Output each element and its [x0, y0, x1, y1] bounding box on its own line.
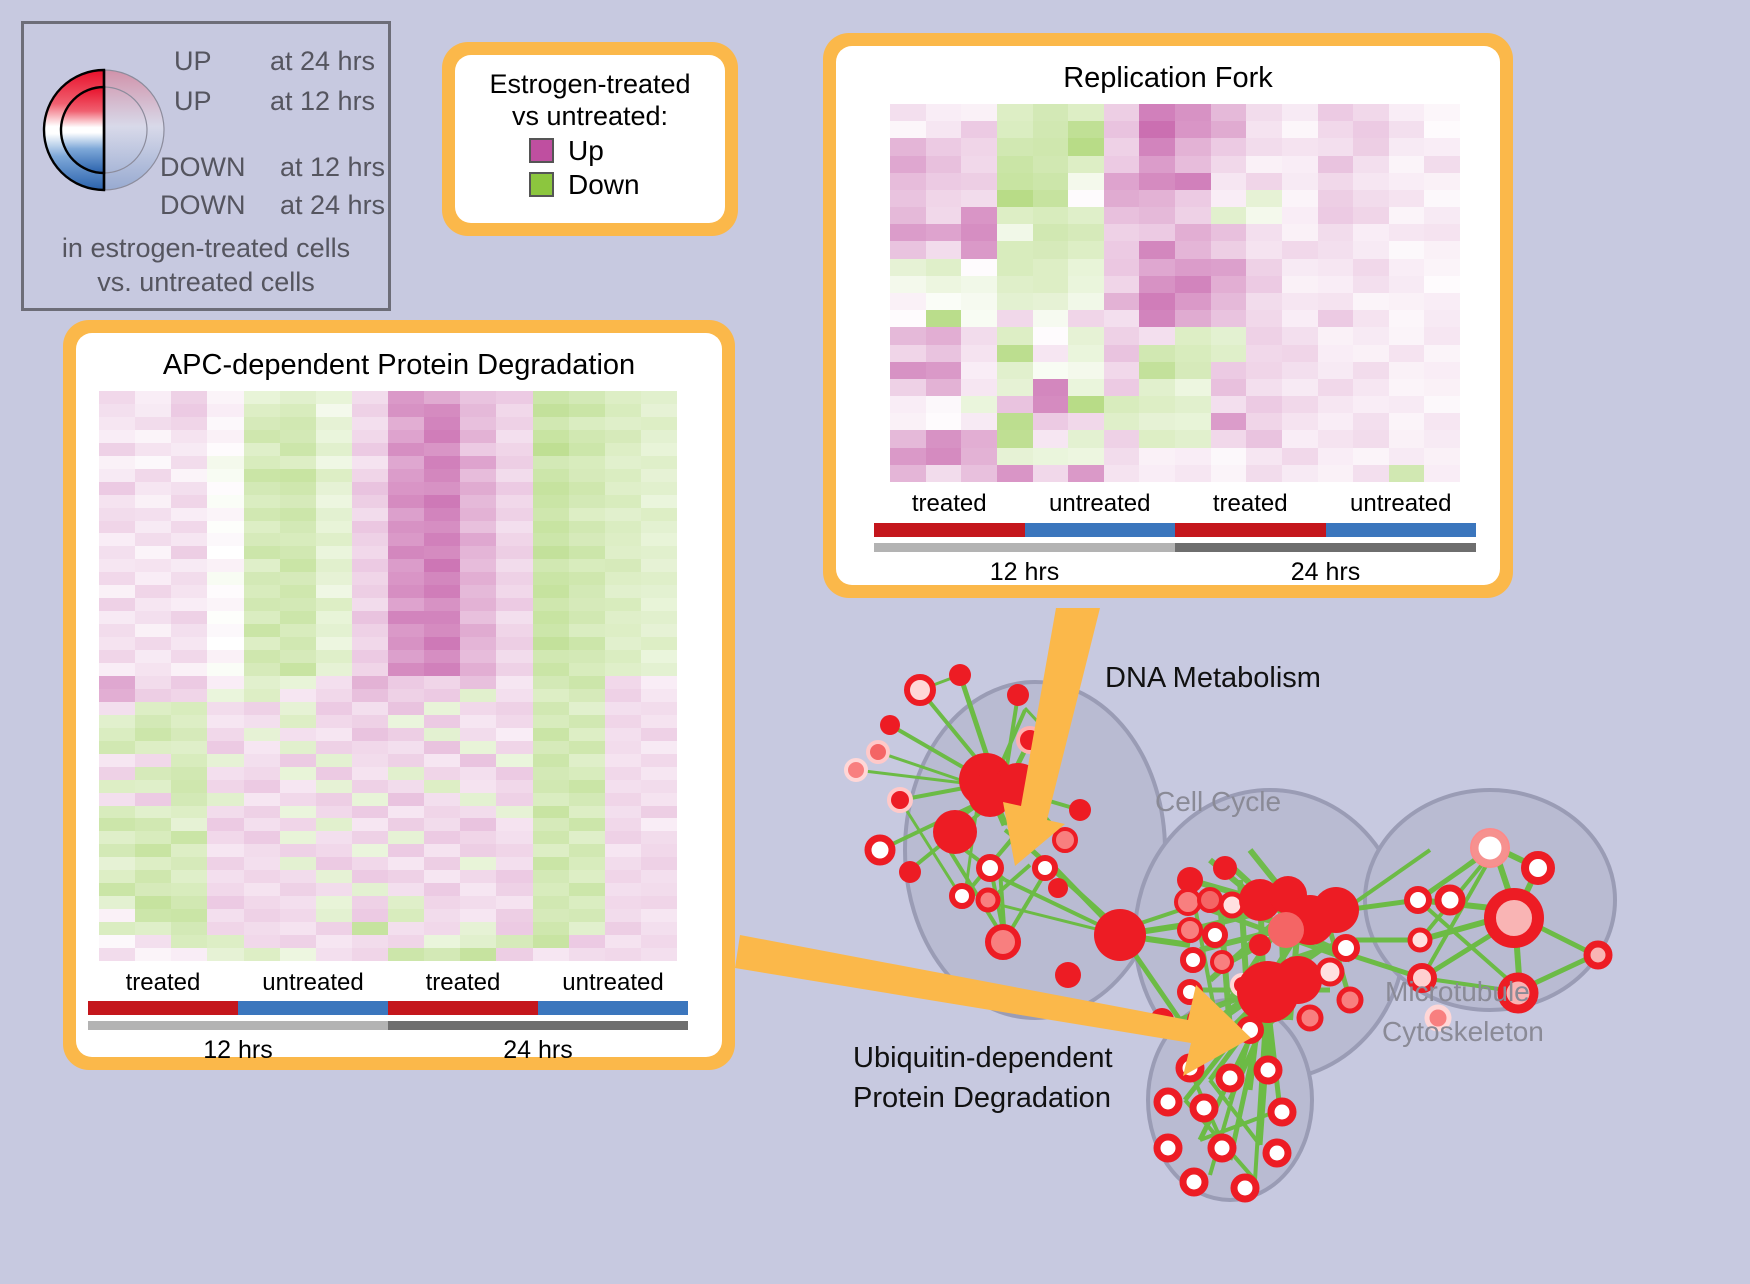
- heatmap-cell: [569, 417, 605, 430]
- heatmap-cell: [99, 818, 135, 831]
- heatmap-cell: [99, 806, 135, 819]
- heatmap-cell: [1211, 293, 1247, 310]
- heatmap-cell: [244, 559, 280, 572]
- heatmap-cell: [280, 391, 316, 404]
- heatmap-cell: [1424, 293, 1460, 310]
- heatmap-cell: [135, 883, 171, 896]
- heatmap-cell: [388, 404, 424, 417]
- heatmap-cell: [207, 767, 243, 780]
- heatmap-cell: [99, 844, 135, 857]
- heatmap-cell: [388, 948, 424, 961]
- heatmap-cell: [1424, 276, 1460, 293]
- heatmap-cell: [460, 611, 496, 624]
- heatmap-cell: [533, 728, 569, 741]
- heatmap-cell: [388, 572, 424, 585]
- heatmap-cell: [1246, 465, 1282, 482]
- heatmap-cell: [424, 702, 460, 715]
- heatmap-cell: [244, 469, 280, 482]
- heatmap-cell: [1068, 121, 1104, 138]
- network-diagram: DNA Metabolism Cell Cycle Microtubule Cy…: [790, 600, 1750, 1279]
- heatmap-cell: [207, 443, 243, 456]
- heatmap-cell: [926, 276, 962, 293]
- heatmap-cell: [1033, 327, 1069, 344]
- heatmap-cell: [926, 224, 962, 241]
- heatmap-cell: [1282, 190, 1318, 207]
- heatmap-cell: [1104, 345, 1140, 362]
- heatmap-cell: [424, 754, 460, 767]
- heatmap-cell: [99, 741, 135, 754]
- heatmap-cell: [1282, 138, 1318, 155]
- heatmap-cell: [244, 883, 280, 896]
- heatmap-replication: [890, 104, 1460, 482]
- heatmap-cell: [424, 780, 460, 793]
- heatmap-cell: [99, 663, 135, 676]
- heatmap-cell: [207, 417, 243, 430]
- heatmap-cell: [1104, 465, 1140, 482]
- heatmap-cell: [890, 327, 926, 344]
- heatmap-cell: [569, 521, 605, 534]
- heatmap-cell: [244, 611, 280, 624]
- heatmap-cell: [961, 465, 997, 482]
- heatmap-cell: [1068, 190, 1104, 207]
- replication-sample-label-2: treated: [1175, 490, 1326, 518]
- heatmap-cell: [1211, 138, 1247, 155]
- heatmap-cell: [641, 831, 677, 844]
- replication-time-bar-12: [874, 543, 1175, 552]
- heatmap-cell: [1282, 241, 1318, 258]
- heatmap-cell: [388, 391, 424, 404]
- heatmap-cell: [244, 443, 280, 456]
- heatmap-cell: [569, 780, 605, 793]
- heatmap-cell: [388, 637, 424, 650]
- heatmap-cell: [533, 754, 569, 767]
- heatmap-cell: [890, 413, 926, 430]
- heatmap-cell: [424, 521, 460, 534]
- heatmap-cell: [207, 521, 243, 534]
- apc-sample-label-3: untreated: [538, 969, 688, 997]
- heatmap-cell: [424, 896, 460, 909]
- heatmap-cell: [605, 896, 641, 909]
- heatmap-cell: [460, 948, 496, 961]
- heatmap-cell: [388, 715, 424, 728]
- heatmap-cell: [1424, 465, 1460, 482]
- heatmap-cell: [280, 922, 316, 935]
- heatmap-cell: [1175, 104, 1211, 121]
- heatmap-cell: [1104, 448, 1140, 465]
- heatmap-cell: [388, 857, 424, 870]
- heatmap-cell: [1424, 224, 1460, 241]
- heatmap-cell: [533, 689, 569, 702]
- heatmap-cell: [1139, 104, 1175, 121]
- heatmap-cell: [1246, 379, 1282, 396]
- heatmap-cell: [280, 883, 316, 896]
- heatmap-cell: [244, 715, 280, 728]
- heatmap-cell: [244, 870, 280, 883]
- heatmap-cell: [1246, 259, 1282, 276]
- heatmap-cell: [1389, 104, 1425, 121]
- heatmap-cell: [496, 559, 532, 572]
- heatmap-apc: [99, 391, 677, 961]
- heatmap-cell: [316, 883, 352, 896]
- heatmap-cell: [496, 728, 532, 741]
- heatmap-cell: [244, 456, 280, 469]
- heatmap-cell: [460, 469, 496, 482]
- heatmap-cell: [1068, 362, 1104, 379]
- heatmap-cell: [171, 469, 207, 482]
- heatmap-cell: [99, 598, 135, 611]
- key-time-1: at 12 hrs: [270, 86, 375, 117]
- panel-replication-title: Replication Fork: [836, 46, 1500, 95]
- heatmap-cell: [1068, 224, 1104, 241]
- heatmap-cell: [424, 482, 460, 495]
- heatmap-cell: [961, 104, 997, 121]
- heatmap-cell: [244, 780, 280, 793]
- heatmap-cell: [460, 689, 496, 702]
- heatmap-cell: [316, 469, 352, 482]
- heatmap-cell: [99, 521, 135, 534]
- heatmap-cell: [926, 138, 962, 155]
- heatmap-cell: [641, 508, 677, 521]
- heatmap-cell: [244, 663, 280, 676]
- heatmap-cell: [352, 831, 388, 844]
- heatmap-cell: [207, 715, 243, 728]
- heatmap-cell: [641, 624, 677, 637]
- heatmap-cell: [926, 259, 962, 276]
- heatmap-cell: [352, 715, 388, 728]
- heatmap-cell: [135, 663, 171, 676]
- heatmap-cell: [171, 922, 207, 935]
- heatmap-cell: [1175, 310, 1211, 327]
- heatmap-cell: [99, 417, 135, 430]
- heatmap-cell: [496, 598, 532, 611]
- heatmap-cell: [171, 533, 207, 546]
- heatmap-cell: [605, 404, 641, 417]
- heatmap-cell: [460, 896, 496, 909]
- heatmap-cell: [569, 702, 605, 715]
- heatmap-cell: [890, 276, 926, 293]
- heatmap-cell: [460, 546, 496, 559]
- heatmap-cell: [926, 173, 962, 190]
- legend-swatch-up: [529, 138, 554, 163]
- heatmap-cell: [135, 508, 171, 521]
- heatmap-cell: [605, 611, 641, 624]
- heatmap-cell: [135, 741, 171, 754]
- heatmap-cell: [352, 508, 388, 521]
- heatmap-cell: [316, 935, 352, 948]
- heatmap-cell: [1246, 121, 1282, 138]
- heatmap-cell: [171, 585, 207, 598]
- apc-time-label-12: 12 hrs: [88, 1036, 388, 1065]
- heatmap-cell: [569, 831, 605, 844]
- heatmap-cell: [1246, 430, 1282, 447]
- heatmap-cell: [171, 430, 207, 443]
- heatmap-cell: [496, 637, 532, 650]
- heatmap-cell: [496, 780, 532, 793]
- heatmap-cell: [280, 870, 316, 883]
- heatmap-cell: [424, 935, 460, 948]
- heatmap-cell: [1424, 173, 1460, 190]
- heatmap-cell: [997, 379, 1033, 396]
- heatmap-cell: [496, 482, 532, 495]
- heatmap-cell: [997, 104, 1033, 121]
- heatmap-cell: [569, 844, 605, 857]
- heatmap-cell: [533, 469, 569, 482]
- heatmap-cell: [244, 728, 280, 741]
- heatmap-cell: [605, 935, 641, 948]
- heatmap-cell: [1246, 104, 1282, 121]
- heatmap-cell: [280, 806, 316, 819]
- heatmap-cell: [1424, 327, 1460, 344]
- replication-condition-untreated-12: [1025, 523, 1176, 537]
- heatmap-cell: [388, 689, 424, 702]
- heatmap-cell: [1282, 448, 1318, 465]
- heatmap-cell: [533, 857, 569, 870]
- heatmap-cell: [569, 559, 605, 572]
- heatmap-cell: [605, 883, 641, 896]
- heatmap-cell: [605, 456, 641, 469]
- heatmap-cell: [533, 637, 569, 650]
- heatmap-cell: [460, 870, 496, 883]
- heatmap-cell: [496, 676, 532, 689]
- heatmap-cell: [280, 637, 316, 650]
- heatmap-cell: [641, 793, 677, 806]
- heatmap-cell: [99, 676, 135, 689]
- heatmap-cell: [99, 909, 135, 922]
- heatmap-cell: [496, 391, 532, 404]
- heatmap-cell: [605, 443, 641, 456]
- heatmap-cell: [135, 676, 171, 689]
- heatmap-cell: [135, 598, 171, 611]
- heatmap-cell: [997, 430, 1033, 447]
- apc-time-label-24: 24 hrs: [388, 1036, 688, 1065]
- heatmap-cell: [135, 754, 171, 767]
- heatmap-cell: [533, 715, 569, 728]
- heatmap-cell: [1068, 465, 1104, 482]
- heatmap-cell: [496, 650, 532, 663]
- heatmap-cell: [496, 870, 532, 883]
- heatmap-cell: [961, 173, 997, 190]
- heatmap-cell: [207, 391, 243, 404]
- heatmap-cell: [171, 948, 207, 961]
- heatmap-cell: [1139, 224, 1175, 241]
- heatmap-cell: [1175, 345, 1211, 362]
- heatmap-cell: [207, 624, 243, 637]
- heatmap-cell: [1033, 241, 1069, 258]
- heatmap-cell: [1424, 104, 1460, 121]
- apc-time-bar: [88, 1021, 688, 1030]
- heatmap-cell: [99, 508, 135, 521]
- heatmap-cell: [1353, 396, 1389, 413]
- heatmap-cell: [1211, 379, 1247, 396]
- heatmap-cell: [1424, 190, 1460, 207]
- heatmap-cell: [1033, 104, 1069, 121]
- heatmap-cell: [569, 857, 605, 870]
- heatmap-cell: [207, 469, 243, 482]
- heatmap-cell: [605, 624, 641, 637]
- heatmap-cell: [316, 637, 352, 650]
- heatmap-cell: [1104, 327, 1140, 344]
- heatmap-cell: [280, 443, 316, 456]
- heatmap-cell: [280, 417, 316, 430]
- heatmap-cell: [316, 922, 352, 935]
- heatmap-cell: [135, 780, 171, 793]
- heatmap-cell: [496, 741, 532, 754]
- heatmap-cell: [280, 482, 316, 495]
- heatmap-cell: [135, 391, 171, 404]
- heatmap-cell: [1246, 396, 1282, 413]
- heatmap-cell: [605, 598, 641, 611]
- heatmap-cell: [1246, 276, 1282, 293]
- heatmap-cell: [496, 508, 532, 521]
- heatmap-cell: [1104, 379, 1140, 396]
- heatmap-cell: [99, 624, 135, 637]
- heatmap-cell: [926, 396, 962, 413]
- key-time-0: at 24 hrs: [270, 46, 375, 77]
- heatmap-cell: [244, 818, 280, 831]
- heatmap-cell: [352, 598, 388, 611]
- heatmap-cell: [424, 495, 460, 508]
- heatmap-cell: [641, 844, 677, 857]
- heatmap-cell: [926, 293, 962, 310]
- heatmap-cell: [961, 156, 997, 173]
- heatmap-cell: [244, 948, 280, 961]
- heatmap-cell: [424, 715, 460, 728]
- heatmap-cell: [171, 521, 207, 534]
- apc-condition-bar: [88, 1001, 688, 1015]
- heatmap-cell: [316, 676, 352, 689]
- heatmap-cell: [352, 870, 388, 883]
- heatmap-cell: [316, 663, 352, 676]
- heatmap-cell: [533, 831, 569, 844]
- heatmap-cell: [99, 702, 135, 715]
- heatmap-cell: [171, 559, 207, 572]
- heatmap-cell: [1389, 362, 1425, 379]
- heatmap-cell: [1211, 156, 1247, 173]
- heatmap-cell: [961, 345, 997, 362]
- heatmap-cell: [207, 806, 243, 819]
- heatmap-cell: [207, 456, 243, 469]
- heatmap-cell: [605, 559, 641, 572]
- heatmap-cell: [605, 650, 641, 663]
- heatmap-cell: [1424, 310, 1460, 327]
- heatmap-cell: [171, 650, 207, 663]
- heatmap-cell: [1175, 259, 1211, 276]
- heatmap-cell: [207, 611, 243, 624]
- heatmap-cell: [424, 598, 460, 611]
- heatmap-cell: [135, 922, 171, 935]
- heatmap-cell: [569, 715, 605, 728]
- heatmap-cell: [388, 663, 424, 676]
- heatmap-cell: [280, 896, 316, 909]
- heatmap-cell: [424, 624, 460, 637]
- heatmap-cell: [533, 391, 569, 404]
- heatmap-cell: [1104, 138, 1140, 155]
- heatmap-cell: [605, 585, 641, 598]
- heatmap-cell: [961, 121, 997, 138]
- heatmap-cell: [280, 767, 316, 780]
- heatmap-cell: [890, 345, 926, 362]
- heatmap-cell: [890, 430, 926, 447]
- heatmap-cell: [997, 465, 1033, 482]
- apc-condition-treated-12: [88, 1001, 238, 1015]
- heatmap-cell: [1104, 156, 1140, 173]
- heatmap-cell: [99, 780, 135, 793]
- heatmap-cell: [424, 767, 460, 780]
- heatmap-cell: [316, 404, 352, 417]
- heatmap-cell: [135, 896, 171, 909]
- heatmap-cell: [460, 883, 496, 896]
- replication-time-labels: 12 hrs 24 hrs: [874, 558, 1476, 587]
- heatmap-cell: [1033, 430, 1069, 447]
- heatmap-cell: [1318, 207, 1354, 224]
- heatmap-cell: [280, 702, 316, 715]
- heatmap-cell: [496, 689, 532, 702]
- heatmap-cell: [352, 469, 388, 482]
- heatmap-cell: [135, 559, 171, 572]
- heatmap-cell: [1424, 430, 1460, 447]
- heatmap-cell: [1068, 173, 1104, 190]
- heatmap-cell: [961, 430, 997, 447]
- heatmap-cell: [890, 121, 926, 138]
- heatmap-cell: [207, 883, 243, 896]
- heatmap-cell: [460, 676, 496, 689]
- replication-condition-treated-12: [874, 523, 1025, 537]
- heatmap-cell: [99, 922, 135, 935]
- heatmap-cell: [569, 676, 605, 689]
- heatmap-cell: [388, 508, 424, 521]
- heatmap-cell: [926, 190, 962, 207]
- heatmap-cell: [1389, 379, 1425, 396]
- heatmap-cell: [316, 767, 352, 780]
- heatmap-cell: [244, 922, 280, 935]
- heatmap-cell: [890, 448, 926, 465]
- heatmap-cell: [388, 469, 424, 482]
- heatmap-cell: [961, 310, 997, 327]
- heatmap-cell: [569, 883, 605, 896]
- heatmap-cell: [171, 482, 207, 495]
- heatmap-cell: [641, 611, 677, 624]
- heatmap-cell: [316, 546, 352, 559]
- legend-label-down: Down: [568, 169, 640, 201]
- heatmap-cell: [1318, 121, 1354, 138]
- heatmap-cell: [997, 121, 1033, 138]
- heatmap-cell: [1353, 345, 1389, 362]
- heatmap-cell: [1282, 465, 1318, 482]
- heatmap-cell: [890, 396, 926, 413]
- heatmap-cell: [1353, 448, 1389, 465]
- heatmap-cell: [1139, 207, 1175, 224]
- heatmap-cell: [1104, 173, 1140, 190]
- heatmap-cell: [460, 624, 496, 637]
- heatmap-cell: [316, 521, 352, 534]
- heatmap-cell: [171, 663, 207, 676]
- heatmap-cell: [352, 391, 388, 404]
- heatmap-cell: [352, 443, 388, 456]
- heatmap-cell: [1139, 465, 1175, 482]
- network-svg: [790, 600, 1750, 1279]
- apc-sample-label-2: treated: [388, 969, 538, 997]
- heatmap-cell: [641, 883, 677, 896]
- heatmap-cell: [135, 495, 171, 508]
- heatmap-cell: [99, 896, 135, 909]
- heatmap-cell: [135, 404, 171, 417]
- heatmap-cell: [244, 896, 280, 909]
- heatmap-cell: [207, 404, 243, 417]
- heatmap-cell: [424, 741, 460, 754]
- heatmap-cell: [207, 896, 243, 909]
- heatmap-cell: [280, 572, 316, 585]
- heatmap-cell: [135, 728, 171, 741]
